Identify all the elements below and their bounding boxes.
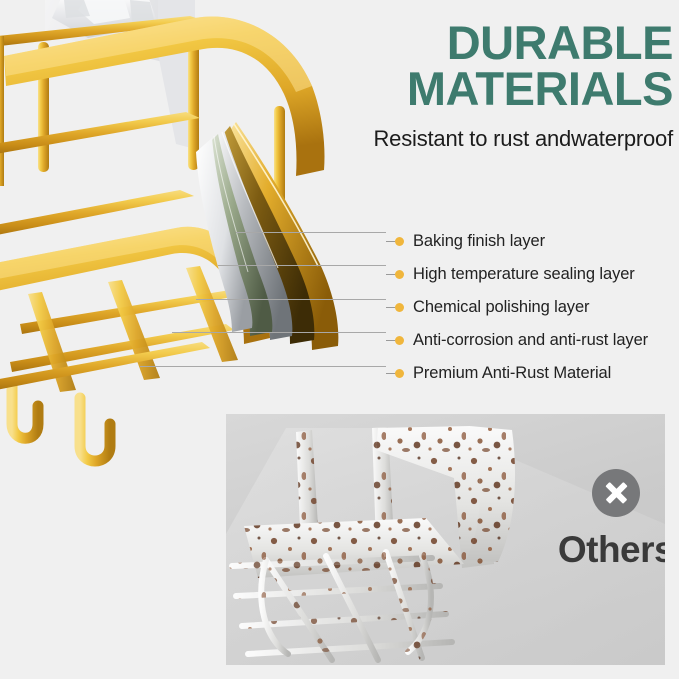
callout-label: Premium Anti-Rust Material [413,364,611,383]
headline-block: DURABLE MATERIALS [253,20,673,112]
close-x-icon [592,469,640,517]
callout-dot-icon [395,336,404,345]
callout-dash-icon [386,307,395,308]
shelf-middle-bars [0,112,200,236]
callout-label: Baking finish layer [413,232,545,251]
callout-item-chemical-polishing[interactable]: Chemical polishing layer [386,291,676,324]
callout-dot-icon [395,270,404,279]
callout-item-premium-anti-rust[interactable]: Premium Anti-Rust Material [386,357,676,390]
leader-line-1 [236,232,386,233]
leader-line-5 [140,366,386,367]
callout-dash-icon [386,241,395,242]
callout-dash-icon [386,274,395,275]
others-comparison-panel: Others [226,414,665,665]
infographic-canvas: DURABLE MATERIALS Resistant to rust andw… [0,0,679,679]
callout-label: High temperature sealing layer [413,265,635,284]
callout-dot-icon [395,237,404,246]
others-label: Others [556,529,665,571]
callout-dash-icon [386,373,395,374]
shelf-hooks [12,386,110,461]
callout-dot-icon [395,303,404,312]
leader-line-4 [172,332,386,333]
callout-item-high-temperature-sealing[interactable]: High temperature sealing layer [386,258,676,291]
subtitle: Resistant to rust andwaterproof [373,126,673,152]
callout-label: Chemical polishing layer [413,298,589,317]
others-badge-group: Others [556,469,665,571]
callout-item-anti-corrosion[interactable]: Anti-corrosion and anti-rust layer [386,324,676,357]
callout-dash-icon [386,340,395,341]
callout-list: Baking finish layer High temperature sea… [386,225,676,390]
callout-dot-icon [395,369,404,378]
title-line-2: MATERIALS [253,66,673,112]
leader-line-2 [218,265,386,266]
leader-line-3 [196,299,386,300]
title-line-1: DURABLE [253,20,673,66]
callout-label: Anti-corrosion and anti-rust layer [413,331,648,350]
callout-item-baking-finish[interactable]: Baking finish layer [386,225,676,258]
